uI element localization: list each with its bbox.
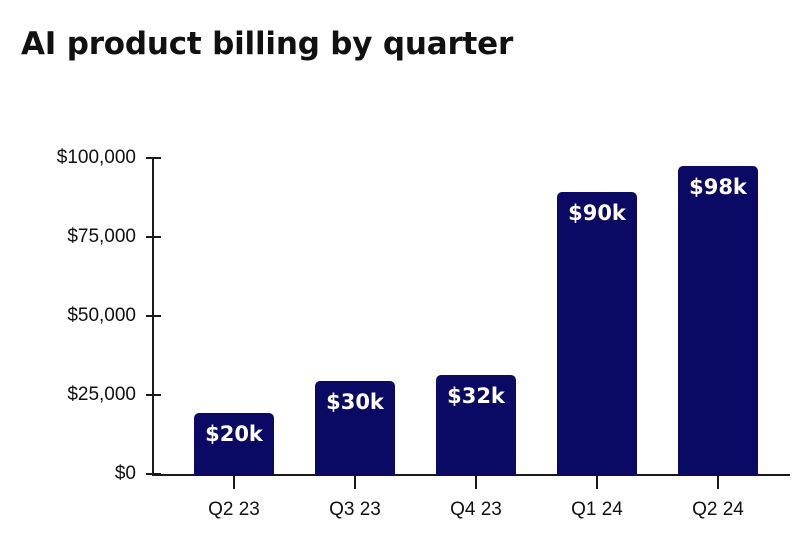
bar-value-label: $30k	[315, 390, 395, 414]
bar[interactable]: $90k	[557, 192, 637, 476]
x-axis-tick	[233, 474, 235, 489]
bar-value-label: $90k	[557, 201, 637, 225]
x-axis-tick-label: Q2 24	[692, 499, 744, 521]
x-axis-tick	[596, 474, 598, 489]
x-axis-tick	[354, 474, 356, 489]
y-axis-tick-label: $0	[115, 463, 136, 485]
bar[interactable]: $98k	[678, 166, 758, 476]
y-axis-tick	[146, 315, 161, 317]
bar[interactable]: $20k	[194, 413, 274, 476]
bar-value-label: $20k	[194, 422, 274, 446]
y-axis-tick-label: $75,000	[67, 226, 136, 248]
bar[interactable]: $32k	[436, 375, 516, 476]
y-axis-tick-label: $50,000	[67, 305, 136, 327]
x-axis-tick-label: Q1 24	[571, 499, 623, 521]
y-axis-tick-label: $25,000	[67, 384, 136, 406]
y-axis-tick-label: $100,000	[57, 147, 136, 169]
plot-area: $0$25,000$50,000$75,000$100,000 Q2 23Q3 …	[152, 158, 790, 474]
y-axis-tick	[146, 157, 161, 159]
bar-value-label: $98k	[678, 175, 758, 199]
x-axis-tick-label: Q2 23	[208, 499, 260, 521]
x-axis-tick-label: Q3 23	[329, 499, 381, 521]
y-axis-tick	[146, 394, 161, 396]
x-axis-tick	[475, 474, 477, 489]
x-axis-tick-label: Q4 23	[450, 499, 502, 521]
bar[interactable]: $30k	[315, 381, 395, 476]
x-axis-tick	[717, 474, 719, 489]
chart-title: AI product billing by quarter	[21, 26, 513, 62]
bar-chart: AI product billing by quarter $0$25,000$…	[0, 0, 812, 538]
y-axis-tick	[146, 236, 161, 238]
y-axis-tick	[146, 473, 161, 475]
bar-value-label: $32k	[436, 384, 516, 408]
